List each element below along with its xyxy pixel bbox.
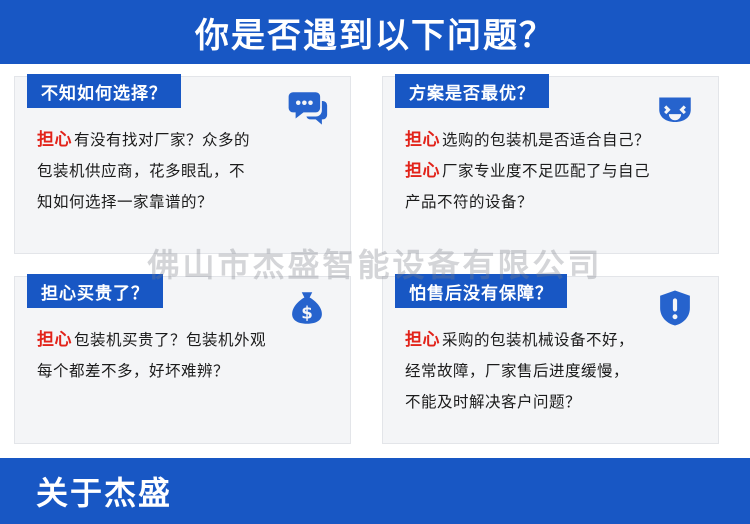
problem-card: 怕售后没有保障？ 担心采购的包装机械设备不好， 经常故障，厂家售后进度缓慢， 不… (382, 276, 719, 444)
line-text: 有没有找对厂家？众多的 (74, 131, 250, 149)
svg-text:$: $ (301, 304, 313, 323)
problem-cards: 不知如何选择？ 担心有没有找对厂家？众多的 包装机供应商，花多眼乱，不 知如何选… (0, 64, 750, 458)
page-title: 你是否遇到以下问题？ (0, 0, 750, 64)
problem-card: 方案是否最优？ 担心选购的包装机是否适合自己？ 担心厂家专业度不足匹配了与自己 … (382, 76, 719, 254)
card-line: 不能及时解决客户问题？ (405, 387, 704, 418)
shield-alert-icon (654, 287, 696, 329)
highlight-text: 担心 (37, 330, 74, 350)
card-body: 担心选购的包装机是否适合自己？ 担心厂家专业度不足匹配了与自己 产品不符的设备？ (405, 125, 704, 218)
line-text: 采购的包装机械设备不好， (442, 331, 634, 349)
card-body: 担心有没有找对厂家？众多的 包装机供应商，花多眼乱，不 知如何选择一家靠谱的？ (37, 125, 336, 218)
card-tag-label: 担心买贵了？ (27, 274, 163, 308)
card-line: 经常故障，厂家售后进度缓慢， (405, 356, 704, 387)
mask-face-icon (654, 87, 696, 129)
highlight-text: 担心 (37, 130, 74, 150)
card-line: 知如何选择一家靠谱的？ (37, 187, 336, 218)
card-line: 担心选购的包装机是否适合自己？ (405, 125, 704, 156)
card-line: 包装机供应商，花多眼乱，不 (37, 156, 336, 187)
card-line: 担心厂家专业度不足匹配了与自己 (405, 156, 704, 187)
line-text: 选购的包装机是否适合自己？ (442, 131, 650, 149)
money-bag-icon: $ (286, 287, 328, 329)
card-line: 每个都差不多，好坏难辨？ (37, 356, 336, 387)
chat-bubbles-icon (286, 87, 328, 129)
card-line: 担心有没有找对厂家？众多的 (37, 125, 336, 156)
problem-card: 不知如何选择？ 担心有没有找对厂家？众多的 包装机供应商，花多眼乱，不 知如何选… (14, 76, 351, 254)
highlight-text: 担心 (405, 161, 442, 181)
card-body: 担心采购的包装机械设备不好， 经常故障，厂家售后进度缓慢， 不能及时解决客户问题… (405, 325, 704, 418)
line-text: 产品不符的设备？ (405, 193, 533, 211)
problem-card: 担心买贵了？ $ 担心包装机买贵了？包装机外观 每个都差不多，好坏难辨？ (14, 276, 351, 444)
line-text: 知如何选择一家靠谱的？ (37, 193, 213, 211)
line-text: 不能及时解决客户问题？ (405, 393, 581, 411)
bottom-banner: 关于杰盛 (0, 458, 750, 524)
card-tag-label: 怕售后没有保障？ (395, 274, 567, 308)
highlight-text: 担心 (405, 330, 442, 350)
card-tag-label: 不知如何选择？ (27, 74, 181, 108)
line-text: 包装机买贵了？包装机外观 (74, 331, 266, 349)
line-text: 经常故障，厂家售后进度缓慢， (405, 362, 629, 380)
card-body: 担心包装机买贵了？包装机外观 每个都差不多，好坏难辨？ (37, 325, 336, 387)
line-text: 包装机供应商，花多眼乱，不 (37, 162, 245, 180)
section-title: 关于杰盛 (36, 458, 172, 524)
line-text: 每个都差不多，好坏难辨？ (37, 362, 229, 380)
card-line: 担心包装机买贵了？包装机外观 (37, 325, 336, 356)
top-banner: 你是否遇到以下问题？ (0, 0, 750, 64)
highlight-text: 担心 (405, 130, 442, 150)
card-line: 担心采购的包装机械设备不好， (405, 325, 704, 356)
card-tag-label: 方案是否最优？ (395, 74, 549, 108)
line-text: 厂家专业度不足匹配了与自己 (442, 162, 650, 180)
card-line: 产品不符的设备？ (405, 187, 704, 218)
promo-page: 你是否遇到以下问题？ 不知如何选择？ 担心有没有找对厂家？众多的 包装机供应商，… (0, 0, 750, 524)
